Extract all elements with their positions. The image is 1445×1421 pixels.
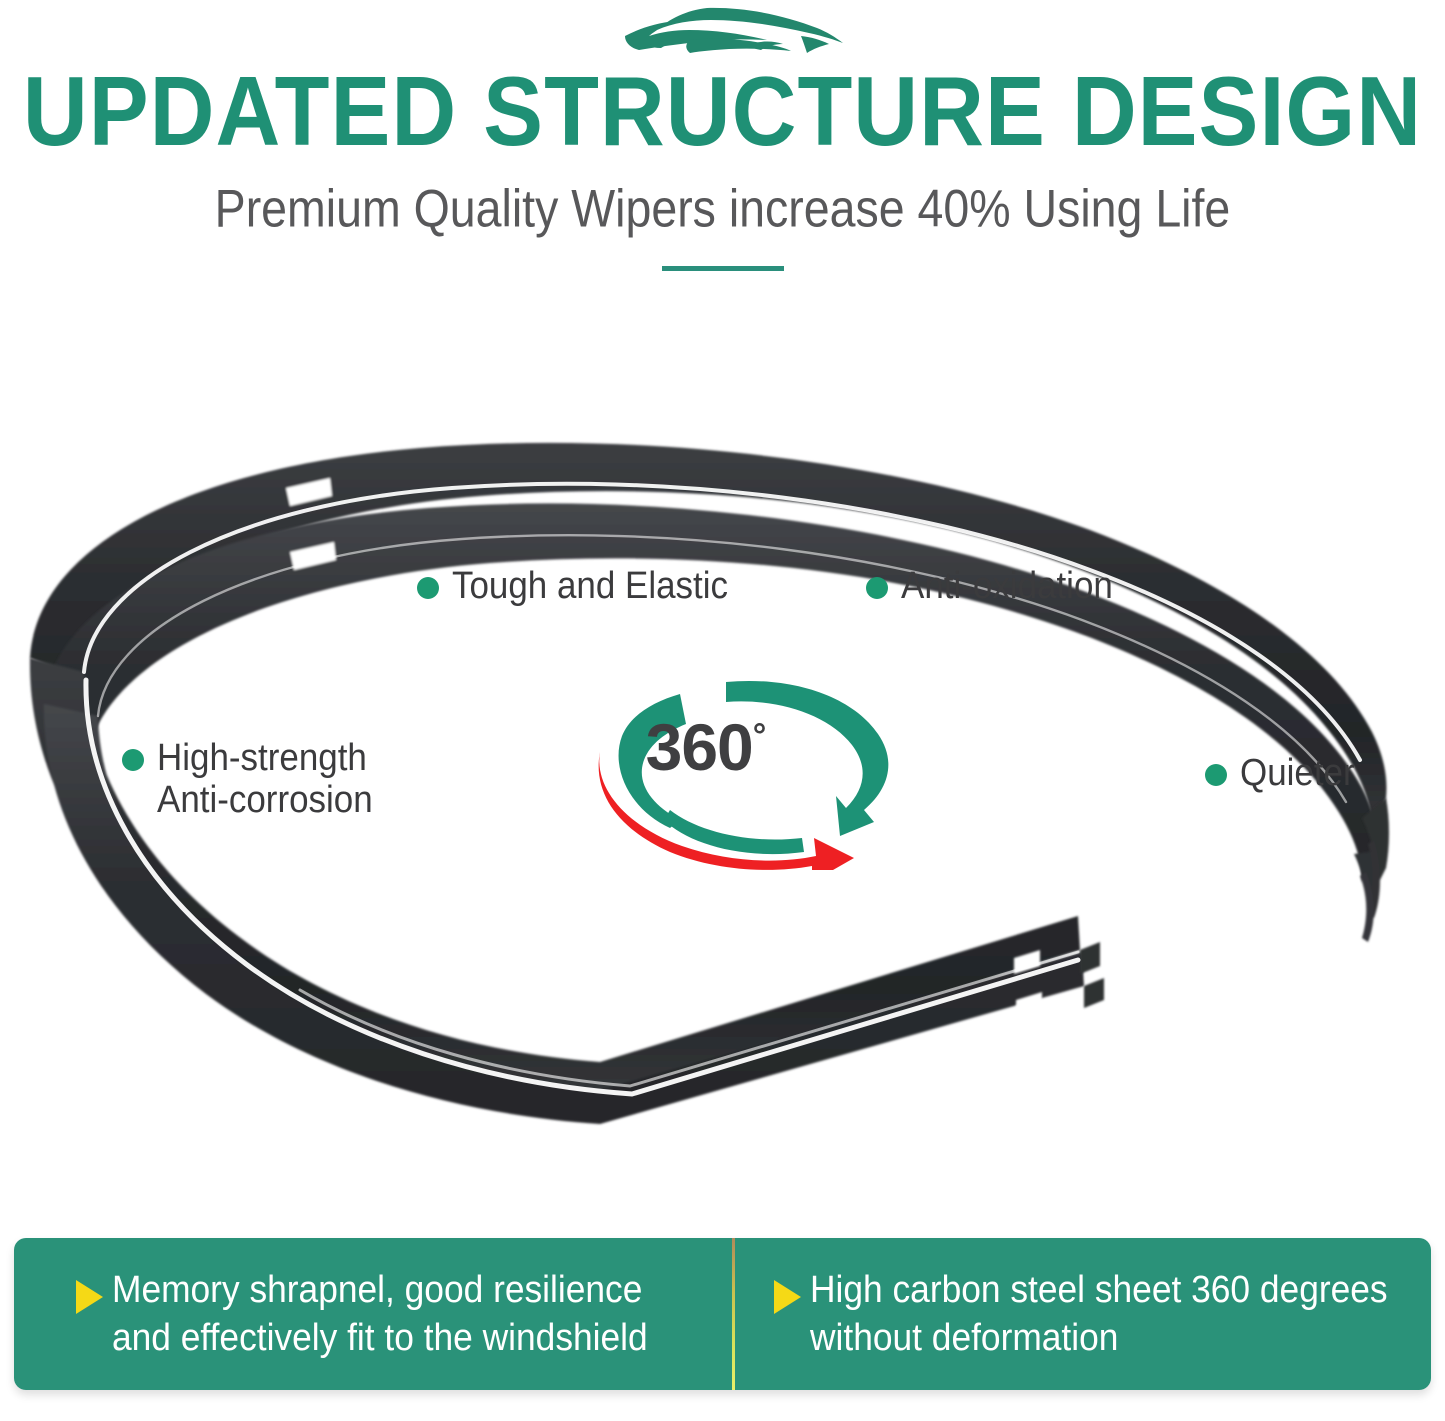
banner-item-memory-shrapnel: Memory shrapnel, good resilience and eff… xyxy=(14,1238,694,1390)
feature-anti-oxidation: Anti-oxidation xyxy=(866,565,1131,607)
banner-line1: High carbon steel sheet 360 degrees xyxy=(810,1266,1388,1314)
degree-symbol: ° xyxy=(753,717,766,755)
bullet-dot-icon xyxy=(1205,764,1227,786)
car-silhouette-logo xyxy=(595,6,850,58)
feature-label: Quieter xyxy=(1240,752,1355,794)
feature-label-line2: Anti-corrosion xyxy=(157,779,373,821)
header-section: UPDATED STRUCTURE DESIGN Premium Quality… xyxy=(0,0,1445,290)
title-divider xyxy=(662,266,784,271)
triangle-bullet-icon xyxy=(774,1280,801,1314)
feature-label: High-strength Anti-corrosion xyxy=(157,737,373,821)
bottom-feature-banner: Memory shrapnel, good resilience and eff… xyxy=(14,1238,1431,1390)
feature-quieter: Quieter xyxy=(1205,752,1365,794)
feature-high-strength-anti-corrosion: High-strength Anti-corrosion xyxy=(122,737,391,821)
feature-label: Tough and Elastic xyxy=(452,565,728,607)
triangle-bullet-icon xyxy=(76,1280,103,1314)
banner-text: Memory shrapnel, good resilience and eff… xyxy=(112,1266,648,1362)
bullet-dot-icon xyxy=(417,577,439,599)
banner-text: High carbon steel sheet 360 degrees with… xyxy=(810,1266,1388,1362)
page-subtitle: Premium Quality Wipers increase 40% Usin… xyxy=(51,178,1395,239)
bullet-dot-icon xyxy=(866,577,888,599)
360-degree-badge: 360° xyxy=(578,660,918,870)
feature-tough-and-elastic: Tough and Elastic xyxy=(417,565,752,607)
banner-line1: Memory shrapnel, good resilience xyxy=(112,1266,648,1314)
banner-item-high-carbon-steel: High carbon steel sheet 360 degrees with… xyxy=(694,1238,1431,1390)
feature-label-line1: High-strength xyxy=(157,737,367,779)
360-badge-text: 360° xyxy=(578,714,833,780)
page-title: UPDATED STRUCTURE DESIGN xyxy=(0,62,1445,161)
banner-line2: and effectively fit to the windshield xyxy=(112,1314,648,1362)
feature-label: Anti-oxidation xyxy=(901,565,1113,607)
banner-line2: without deformation xyxy=(810,1314,1388,1362)
360-number: 360 xyxy=(646,710,753,784)
bullet-dot-icon xyxy=(122,749,144,771)
